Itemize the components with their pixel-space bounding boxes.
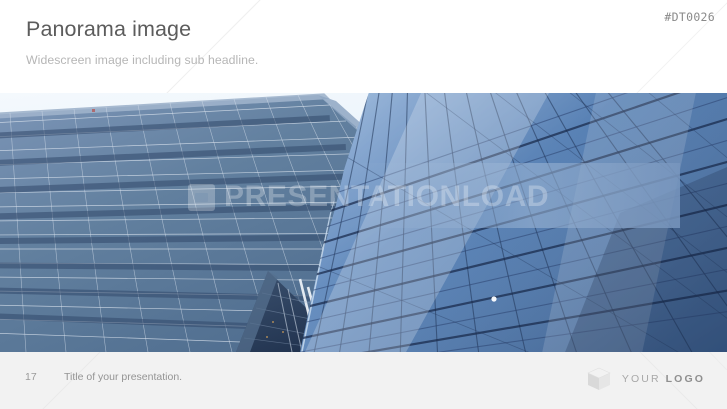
logo-placeholder[interactable]: YOUR LOGO [586,366,705,392]
slide-footer: 17 Title of your presentation. YOUR LOGO [0,352,727,409]
slide-canvas: Panorama image Widescreen image includin… [0,0,727,409]
header-diagonal-decoration [0,0,727,93]
slide-header: Panorama image Widescreen image includin… [0,0,727,93]
cube-icon [586,366,612,392]
page-subtitle: Widescreen image including sub headline. [26,53,258,67]
panorama-image [0,93,727,352]
footer-title: Title of your presentation. [64,371,182,383]
right-glass-building [292,93,727,352]
logo-text-light: YOUR [622,373,661,385]
logo-text-bold: LOGO [666,373,705,385]
page-title: Panorama image [26,17,191,42]
page-number: 17 [25,371,37,383]
template-id-label: #DT0026 [664,10,715,24]
logo-text: YOUR LOGO [622,373,705,385]
panorama-image-artwork [0,93,727,352]
